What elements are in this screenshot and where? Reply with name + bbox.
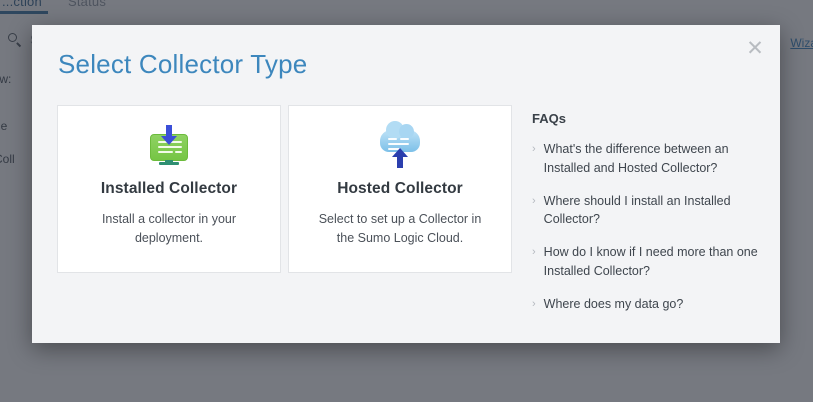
- faq-item-label: How do I know if I need more than one In…: [544, 243, 760, 281]
- select-collector-type-dialog: ✕ Select Collector Type: [32, 25, 780, 343]
- installed-collector-icon: [142, 124, 196, 170]
- monitor-base: [159, 162, 179, 165]
- installed-collector-card[interactable]: Installed Collector Install a collector …: [57, 105, 281, 273]
- faq-item-label: Where does my data go?: [544, 295, 684, 314]
- dialog-body: Installed Collector Install a collector …: [32, 105, 780, 327]
- hosted-collector-title: Hosted Collector: [337, 180, 463, 198]
- cloud-text-line: [400, 138, 409, 140]
- faq-item[interactable]: › How do I know if I need more than one …: [532, 243, 760, 281]
- hosted-collector-description: Select to set up a Collector in the Sumo…: [313, 210, 488, 249]
- faq-item[interactable]: › Where does my data go?: [532, 295, 760, 314]
- collector-type-cards: Installed Collector Install a collector …: [57, 105, 512, 273]
- chevron-right-icon: ›: [532, 140, 536, 178]
- installed-collector-description: Install a collector in your deployment.: [82, 210, 257, 249]
- faq-item-label: Where should I install an Installed Coll…: [544, 192, 760, 230]
- hosted-collector-card[interactable]: Hosted Collector Select to set up a Coll…: [288, 105, 512, 273]
- chevron-right-icon: ›: [532, 192, 536, 230]
- chevron-right-icon: ›: [532, 243, 536, 281]
- monitor-text-line: [158, 151, 173, 153]
- faq-item-label: What's the difference between an Install…: [544, 140, 760, 178]
- faq-heading: FAQs: [532, 111, 760, 126]
- faq-item[interactable]: › Where should I install an Installed Co…: [532, 192, 760, 230]
- faq-panel: FAQs › What's the difference between an …: [532, 105, 760, 327]
- hosted-collector-icon: [373, 124, 427, 170]
- chevron-right-icon: ›: [532, 295, 536, 314]
- installed-collector-title: Installed Collector: [101, 180, 237, 198]
- cloud-text-line: [388, 138, 397, 140]
- dialog-title: Select Collector Type: [58, 49, 307, 80]
- upload-arrow-icon: [397, 157, 403, 168]
- close-icon[interactable]: ✕: [742, 35, 768, 61]
- monitor-text-line: [175, 151, 182, 153]
- faq-item[interactable]: › What's the difference between an Insta…: [532, 140, 760, 178]
- cloud-text-line: [388, 143, 409, 145]
- monitor-text-line: [158, 146, 182, 148]
- download-arrow-icon: [166, 125, 172, 137]
- app-screen: ...ction Status S how: ame o Coll Wizar …: [0, 0, 813, 402]
